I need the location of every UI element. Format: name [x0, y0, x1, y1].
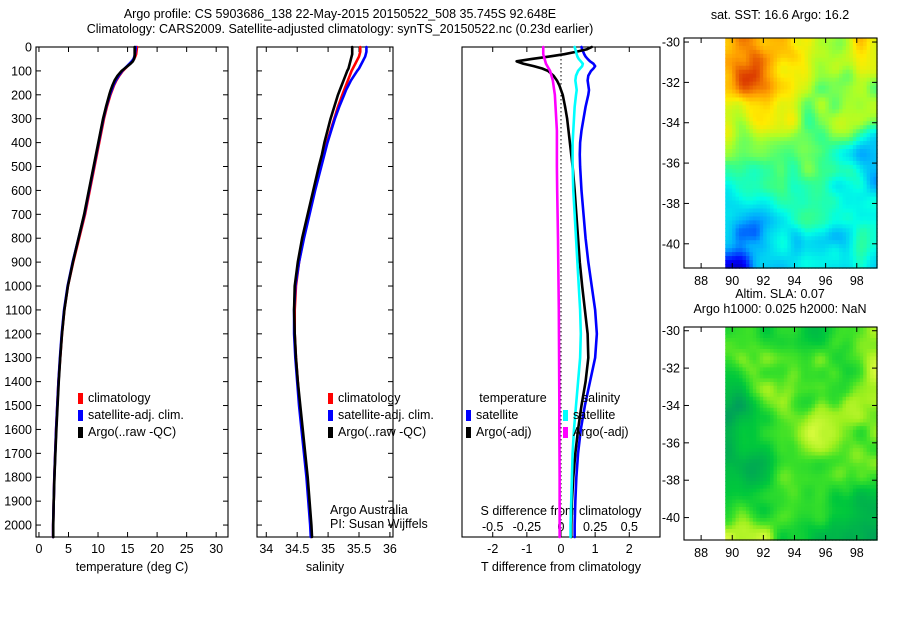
- x-tick-label-s: 0.5: [621, 520, 638, 534]
- x-axis-label: temperature (deg C): [76, 560, 189, 574]
- y-tick-label: -38: [662, 197, 680, 211]
- legend-label: Argo(-adj): [476, 425, 532, 439]
- legend-header-salinity: salinity: [582, 391, 621, 405]
- legend-swatch: [466, 410, 471, 421]
- x-axis-label-bottom: T difference from climatology: [481, 560, 642, 574]
- sst-map-raster: [725, 38, 877, 269]
- y-tick-label: -40: [662, 237, 680, 251]
- y-tick-label: 1800: [4, 471, 32, 485]
- argo-profile-figure: Argo profile: CS 5903686_138 22-May-2015…: [0, 0, 900, 580]
- y-tick-label: 1600: [4, 423, 32, 437]
- legend-label: satellite: [573, 408, 615, 422]
- x-tick-label-s: 0.25: [583, 520, 607, 534]
- x-axis-label-top: S difference from climatology: [481, 504, 643, 518]
- y-tick-label: 1900: [4, 495, 32, 509]
- x-tick-label: 88: [694, 274, 708, 288]
- legend-swatch: [328, 410, 333, 421]
- legend-swatch: [563, 427, 568, 438]
- x-tick-label: 34.5: [285, 542, 309, 556]
- legend-swatch: [78, 410, 83, 421]
- y-tick-label: 300: [11, 112, 32, 126]
- y-tick-label: 700: [11, 208, 32, 222]
- x-tick-label-t: 2: [626, 542, 633, 556]
- legend-swatch: [328, 427, 333, 438]
- x-tick-label-t: -2: [487, 542, 498, 556]
- x-tick-label-t: 0: [558, 542, 565, 556]
- legend-label: Argo(..raw -QC): [88, 425, 176, 439]
- x-tick-label-t: -1: [521, 542, 532, 556]
- y-tick-label: 900: [11, 256, 32, 270]
- legend-swatch: [466, 427, 471, 438]
- x-tick-label: 98: [850, 274, 864, 288]
- y-tick-label: 800: [11, 232, 32, 246]
- y-tick-label: 1100: [5, 303, 32, 317]
- salinity-frame: [257, 47, 393, 537]
- x-tick-label: 25: [180, 542, 194, 556]
- x-tick-label-s: -0.5: [482, 520, 504, 534]
- legend-label: Argo(-adj): [573, 425, 629, 439]
- legend-label: Argo(..raw -QC): [338, 425, 426, 439]
- y-tick-label: -36: [662, 157, 680, 171]
- y-tick-label: 1200: [4, 327, 32, 341]
- legend-label: satellite-adj. clim.: [88, 408, 184, 422]
- y-tick-label: 500: [11, 160, 32, 174]
- x-tick-label: 94: [788, 274, 802, 288]
- y-tick-label: 1500: [4, 399, 32, 413]
- sla-map-raster: [725, 327, 877, 541]
- x-tick-label: 0: [35, 542, 42, 556]
- x-tick-label-s: -0.25: [513, 520, 542, 534]
- x-tick-label: 96: [819, 274, 833, 288]
- x-tick-label: 35.5: [347, 542, 371, 556]
- difference-series-3: [543, 47, 559, 537]
- legend-label: climatology: [338, 391, 401, 405]
- temperature-series-1: [53, 47, 136, 537]
- y-tick-label: 100: [11, 64, 32, 78]
- y-tick-label: 0: [25, 41, 32, 55]
- x-tick-label: 34: [259, 542, 273, 556]
- x-tick-label: 15: [121, 542, 135, 556]
- x-tick-label: 92: [756, 274, 770, 288]
- legend-swatch: [563, 410, 568, 421]
- x-tick-label: 90: [725, 274, 739, 288]
- legend-swatch: [78, 427, 83, 438]
- y-tick-label: 1400: [4, 375, 32, 389]
- x-tick-label: 36: [383, 542, 397, 556]
- y-tick-label: 1300: [4, 351, 32, 365]
- x-tick-label: 10: [91, 542, 105, 556]
- legend-label: climatology: [88, 391, 151, 405]
- sst-map-title: sat. SST: 16.6 Argo: 16.2: [711, 8, 849, 22]
- y-tick-label: 1000: [4, 280, 32, 294]
- x-tick-label: 20: [150, 542, 164, 556]
- y-tick-label: -30: [662, 36, 680, 50]
- legend-label: satellite: [476, 408, 518, 422]
- y-tick-label: -34: [662, 116, 680, 130]
- y-tick-label: -32: [662, 76, 680, 90]
- credit-org: Argo Australia: [330, 503, 408, 517]
- y-tick-label: 600: [11, 184, 32, 198]
- legend-label: satellite-adj. clim.: [338, 408, 434, 422]
- y-tick-label: 2000: [4, 519, 32, 533]
- figure-canvas: 0100200300400500600700800900100011001200…: [0, 0, 900, 580]
- x-axis-label: salinity: [306, 560, 345, 574]
- salinity-series-2: [294, 47, 352, 537]
- legend-swatch: [328, 393, 333, 404]
- credit-pi: PI: Susan Wijffels: [330, 517, 428, 531]
- legend-header-temperature: temperature: [479, 391, 546, 405]
- y-tick-label: 200: [11, 88, 32, 102]
- x-tick-label: 5: [65, 542, 72, 556]
- x-tick-label-t: 1: [592, 542, 599, 556]
- y-tick-label: 400: [11, 136, 32, 150]
- x-tick-label: 30: [209, 542, 223, 556]
- x-tick-label: 35: [321, 542, 335, 556]
- y-tick-label: 1700: [4, 447, 32, 461]
- legend-swatch: [78, 393, 83, 404]
- temperature-frame: [36, 47, 228, 537]
- difference-series-1: [517, 47, 592, 537]
